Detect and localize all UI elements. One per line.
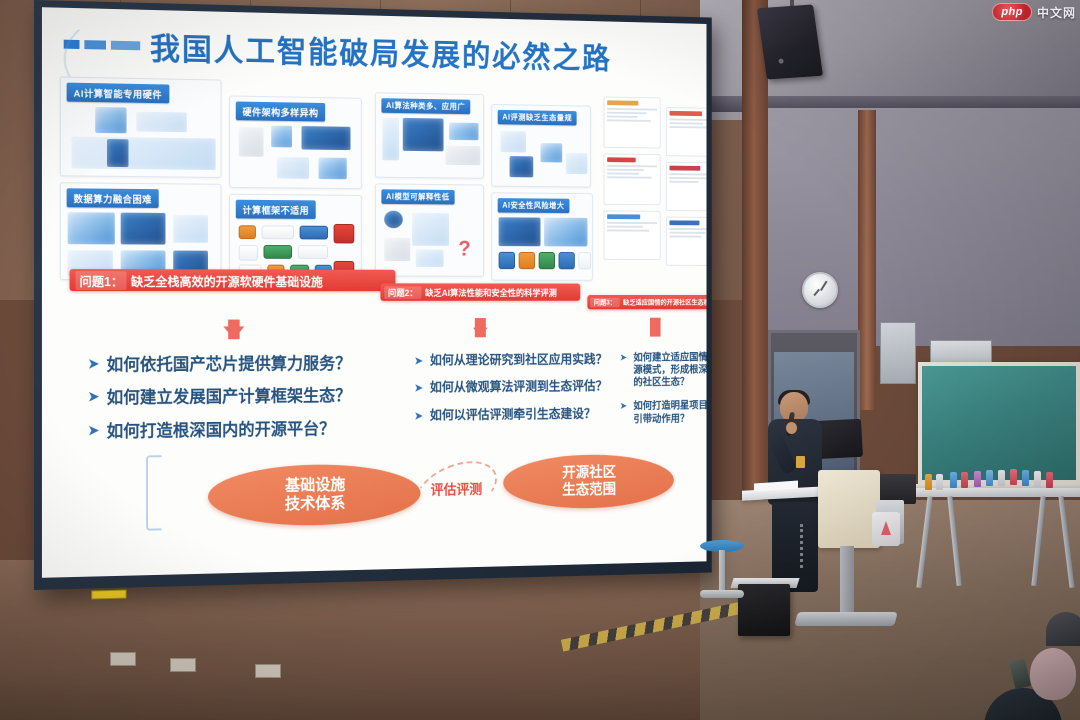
card-tag-label: AI安全性风险增大 — [498, 198, 569, 213]
problem-banner: 问题1： 缺乏全栈高效的开源软硬件基础设施 — [70, 269, 396, 291]
summary-bubble: 基础设施 技术体系 — [208, 463, 420, 527]
slide-card: AI安全性风险增大 — [491, 192, 592, 280]
drink-bottle — [936, 474, 943, 490]
thumb — [121, 213, 166, 245]
summary-bubble-center: 评估评测 — [414, 464, 499, 516]
question-item: ➤ 如何以评估评测牵引生态建设？ — [414, 406, 613, 424]
bullet-arrow-icon: ➤ — [620, 402, 627, 412]
logo-chip — [539, 252, 555, 269]
drink-bottle — [974, 471, 981, 487]
question-item: ➤ 如何从微观算法评测到生态评估？ — [414, 379, 613, 396]
down-arrow-icon — [650, 329, 661, 337]
logo-chip — [262, 225, 294, 239]
audience-member — [1046, 612, 1080, 646]
matrix-cell — [666, 162, 707, 212]
summary-bubble-row: 基础设施 技术体系 评估评测 开源社区 生态范围 — [179, 449, 696, 537]
matrix-cell — [666, 107, 707, 157]
projection-screen[interactable]: 我国人工智能破局发展的必然之路 AI计算智能专用硬件 — [34, 0, 712, 590]
bullet-arrow-icon: ➤ — [414, 382, 423, 394]
card-tag-label: 硬件架构多样异构 — [236, 101, 325, 121]
logo-chip — [264, 245, 293, 259]
summary-bubble: 开源社区 生态范围 — [503, 454, 674, 510]
question-column: ➤ 如何依托国产芯片提供算力服务？ ➤ 如何建立发展国产计算框架生态？ ➤ 如何… — [87, 353, 402, 454]
page-title: 我国人工智能破局发展的必然之路 — [150, 24, 612, 78]
card-tag-label: 数据算力融合困难 — [67, 188, 159, 208]
thumb — [277, 157, 309, 179]
drink-bottle — [961, 472, 968, 488]
bullet-arrow-icon: ➤ — [87, 423, 99, 438]
slide-card: 数据算力融合困难 — [60, 182, 222, 280]
logo-chip — [578, 252, 591, 269]
watermark-site: 中文网 — [1037, 4, 1076, 21]
card-tag-label: 计算框架不适用 — [236, 200, 316, 219]
ceiling-speaker-icon — [757, 4, 823, 79]
bubble-line-2: 生态范围 — [562, 481, 616, 498]
logo-chip — [300, 226, 328, 240]
question-item: ➤ 如何依托国产芯片提供算力服务？ — [87, 353, 402, 376]
logo-chip — [239, 225, 256, 239]
question-text: 如何打造根深国内的开源平台？ — [107, 418, 336, 442]
question-mark-icon: ? — [458, 236, 470, 261]
lectern-panel — [818, 470, 880, 548]
thumb — [500, 131, 526, 152]
summary-bracket — [146, 455, 162, 530]
slide-card: 硬件架构多样异构 — [229, 95, 362, 189]
card-tag-label: AI模型可解释性低 — [381, 189, 454, 204]
card-thumbnails — [497, 127, 586, 185]
drink-bottle — [1022, 470, 1029, 486]
card-thumbnails — [380, 116, 478, 177]
thumb — [416, 250, 444, 267]
drink-bottle — [925, 474, 932, 490]
thumb — [403, 118, 444, 151]
problem-banner: 问题2： 缺乏AI算法性能和安全性的科学评测 — [380, 283, 580, 300]
green-chalkboard — [918, 362, 1080, 484]
matrix-cell — [604, 96, 661, 148]
question-text: 如何从理论研究到社区应用实践？ — [430, 352, 607, 369]
question-columns: ➤ 如何依托国产芯片提供算力服务？ ➤ 如何建立发展国产计算框架生态？ ➤ 如何… — [54, 352, 698, 465]
bubble-line-1: 开源社区 — [562, 464, 616, 481]
thumb — [107, 139, 129, 167]
problem-banner: 问题3： 缺乏适应国情的开源社区生态模式 — [587, 295, 706, 309]
slide-card: AI模型可解释性低 ? — [375, 183, 484, 276]
drink-bottle — [998, 470, 1005, 486]
thumb — [95, 107, 126, 133]
question-text: 如何建立适应国情的开源模式，形成根深我国的社区生态？ — [633, 351, 706, 389]
thumb — [449, 123, 478, 141]
thumb — [510, 156, 534, 177]
problem-banner-text: 缺乏全栈高效的开源软硬件基础设施 — [131, 271, 323, 290]
stool-base — [700, 590, 744, 598]
tote-bag — [872, 512, 900, 546]
screen-sticker — [91, 590, 126, 600]
thumb — [566, 153, 588, 174]
question-item: ➤ 如何打造根深国内的开源平台？ — [87, 417, 402, 442]
screen-frame: 我国人工智能破局发展的必然之路 AI计算智能专用硬件 — [34, 0, 712, 590]
wall-clock-icon — [802, 272, 838, 308]
wall-control-panel — [880, 322, 916, 384]
bullet-arrow-icon: ➤ — [620, 354, 627, 364]
card-tag-label: AI评测缺乏生态量规 — [498, 110, 577, 126]
bullet-arrow-icon: ➤ — [87, 357, 99, 372]
audience-head — [1030, 648, 1076, 700]
bullet-arrow-icon: ➤ — [414, 409, 423, 421]
thumb — [445, 146, 480, 166]
slide-surface: 我国人工智能破局发展的必然之路 AI计算智能专用硬件 — [42, 7, 707, 578]
thumb — [412, 213, 449, 246]
card-tag-label: AI计算智能专用硬件 — [67, 83, 169, 104]
drink-bottle — [950, 472, 957, 488]
right-wall — [756, 108, 1080, 346]
thumb — [544, 218, 587, 247]
floor-outlet — [255, 664, 281, 678]
card-thumbnails: ? — [380, 207, 478, 275]
thumb — [239, 127, 264, 157]
slide-title-row: 我国人工智能破局发展的必然之路 — [52, 13, 698, 81]
card-tag-label: AI算法种类多、应用广 — [381, 98, 469, 114]
question-text: 如何打造明星项目及牵引带动作用？ — [633, 400, 706, 426]
thumb — [72, 137, 216, 170]
thumb — [540, 143, 562, 162]
lectern-stem — [840, 546, 854, 620]
cable-coil — [800, 524, 820, 568]
thumb — [384, 238, 410, 261]
equipment-case — [738, 584, 790, 636]
question-text: 如何建立发展国产计算框架生态？ — [107, 386, 351, 409]
floor-outlet — [170, 658, 196, 672]
problem-banner-label: 问题2： — [384, 286, 421, 299]
thumb — [68, 212, 115, 244]
question-item: ➤ 如何建立适应国情的开源模式，形成根深我国的社区生态？ — [620, 351, 707, 389]
question-item: ➤ 如何打造明星项目及牵引带动作用？ — [620, 400, 707, 426]
card-thumbnails — [235, 123, 356, 189]
lectern-base — [794, 612, 897, 626]
bullet-arrow-icon: ➤ — [414, 355, 423, 367]
presenter-hand — [786, 422, 797, 434]
drink-bottle — [1046, 472, 1053, 488]
thumb — [382, 118, 399, 161]
question-text: 如何以评估评测牵引生态建设？ — [430, 406, 596, 423]
watermark: php 中文网 — [992, 3, 1076, 21]
question-text: 如何从微观算法评测到生态评估？ — [430, 379, 607, 396]
down-arrow-icon — [223, 326, 244, 339]
slide-card-grid: AI计算智能专用硬件 硬件架构多样异构 — [52, 70, 698, 288]
drink-bottle — [1034, 471, 1041, 487]
stool-stem — [719, 550, 725, 594]
thumb — [302, 126, 351, 150]
photo-scene: 我国人工智能破局发展的必然之路 AI计算智能专用硬件 — [0, 0, 1080, 720]
logo-chip — [499, 252, 515, 269]
question-column: ➤ 如何从理论研究到社区应用实践？ ➤ 如何从微观算法评测到生态评估？ ➤ 如何… — [414, 352, 613, 435]
slide-card: AI计算智能专用硬件 — [60, 76, 222, 177]
down-arrow-icon — [473, 328, 488, 338]
question-item: ➤ 如何建立发展国产计算框架生态？ — [87, 385, 402, 409]
thumb — [384, 211, 403, 229]
drink-bottle — [986, 470, 993, 486]
question-text: 如何依托国产芯片提供算力服务？ — [107, 353, 351, 375]
floor-outlet — [110, 652, 136, 666]
logo-chip — [239, 245, 258, 261]
bubble-line-2: 技术体系 — [285, 495, 345, 513]
card-thumbnails — [497, 215, 588, 278]
bubble-line-1: 评估评测 — [431, 481, 483, 498]
matrix-cell — [604, 210, 661, 260]
logo-matrix — [604, 91, 707, 277]
logo-chip — [559, 252, 575, 269]
thumb — [319, 158, 347, 180]
title-dash-icon — [64, 40, 140, 51]
bubble-line-1: 基础设施 — [285, 477, 345, 495]
problem-banner-label: 问题1： — [76, 271, 127, 290]
wall-pillar-secondary — [858, 110, 876, 410]
logo-chip — [298, 245, 328, 259]
problem-banner-text: 缺乏适应国情的开源社区生态模式 — [623, 297, 706, 307]
matrix-cell — [666, 217, 707, 266]
problem-banner-label: 问题3： — [590, 297, 619, 307]
presenter-badge — [796, 456, 805, 468]
thumb — [173, 215, 208, 243]
logo-chip — [519, 252, 535, 269]
problem-banner-text: 缺乏AI算法性能和安全性的科学评测 — [425, 286, 557, 299]
thumb — [136, 112, 186, 133]
question-column: ➤ 如何建立适应国情的开源模式，形成根深我国的社区生态？ ➤ 如何打造明星项目及… — [620, 351, 707, 437]
bullet-arrow-icon: ➤ — [87, 390, 99, 405]
drink-bottle — [1010, 469, 1017, 485]
slide-card: AI算法种类多、应用广 — [375, 92, 484, 179]
watermark-brand: php — [992, 3, 1032, 21]
question-item: ➤ 如何从理论研究到社区应用实践？ — [414, 352, 613, 369]
thumb — [271, 126, 292, 148]
card-thumbnails — [66, 105, 216, 178]
matrix-cell — [604, 153, 661, 205]
slide-card: AI评测缺乏生态量规 — [491, 104, 591, 188]
thumb — [499, 217, 541, 246]
logo-chip — [334, 224, 355, 244]
